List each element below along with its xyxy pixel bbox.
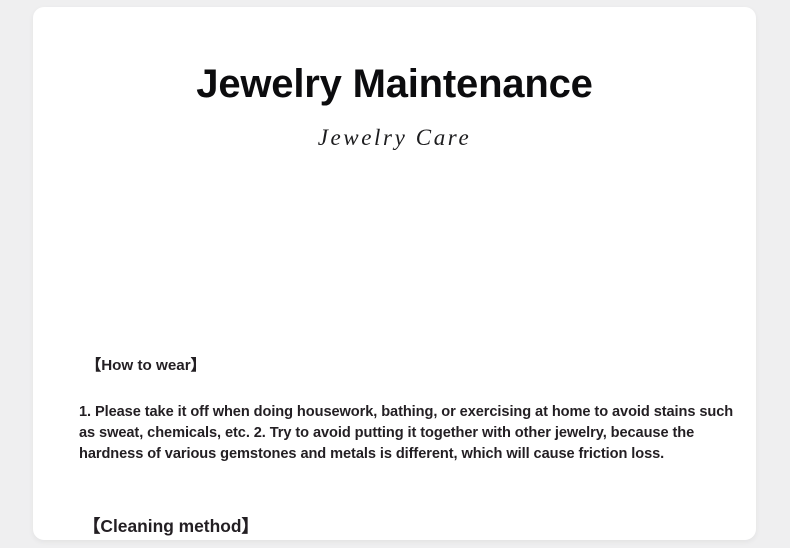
page-background: Jewelry Maintenance Jewelry Care 【How to…: [0, 0, 790, 548]
document-header: Jewelry Maintenance Jewelry Care: [33, 7, 756, 150]
section-heading-cleaning-method: 【Cleaning method】: [83, 516, 259, 537]
page-title: Jewelry Maintenance: [33, 7, 756, 107]
page-subtitle: Jewelry Care: [33, 107, 756, 150]
section-heading-how-to-wear: 【How to wear】: [86, 357, 206, 375]
section-body-how-to-wear: 1. Please take it off when doing housewo…: [79, 402, 739, 465]
content-card: Jewelry Maintenance Jewelry Care 【How to…: [33, 7, 756, 540]
